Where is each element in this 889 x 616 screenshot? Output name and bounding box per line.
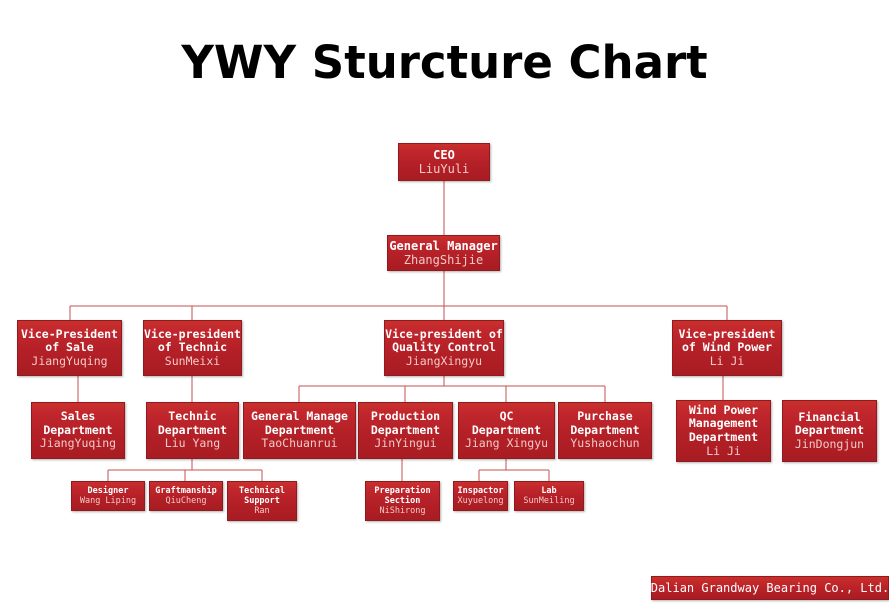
org-chart-canvas: YWY Sturcture Chart (0, 0, 889, 616)
node-vp-sale-role: Vice-President of Sale (21, 328, 118, 355)
page-title: YWY Sturcture Chart (0, 36, 889, 89)
node-inspactor-person: Xuyuelong (457, 496, 503, 506)
node-general-manager-role: General Manager (389, 239, 497, 253)
node-production-department[interactable]: Production Department JinYingui (358, 402, 453, 459)
node-sales-department-person: JiangYuqing (40, 437, 116, 451)
node-designer-person: Wang Liping (80, 496, 136, 506)
node-purchase-department-person: Yushaochun (570, 437, 639, 451)
node-lab-role: Lab (541, 486, 556, 496)
node-vp-wind-power-role: Vice-president of Wind Power (679, 328, 776, 355)
node-graftmanship[interactable]: Graftmanship QiuCheng (149, 481, 223, 511)
node-financial-department[interactable]: Financial Department JinDongjun (782, 400, 877, 462)
node-wind-power-management-department[interactable]: Wind Power Management Department Li Ji (676, 400, 771, 462)
node-wind-power-management-department-person: Li Ji (706, 445, 741, 459)
node-general-manager[interactable]: General Manager ZhangShijie (387, 235, 500, 271)
node-wind-power-management-department-role: Wind Power Management Department (689, 404, 758, 445)
node-vp-wind-power[interactable]: Vice-president of Wind Power Li Ji (672, 320, 782, 376)
node-financial-department-person: JinDongjun (795, 438, 864, 452)
node-inspactor-role: Inspactor (457, 486, 503, 496)
node-vp-sale[interactable]: Vice-President of Sale JiangYuqing (17, 320, 122, 376)
node-qc-department-person: Jiang Xingyu (465, 437, 548, 451)
node-vp-wind-power-person: Li Ji (710, 355, 745, 369)
node-vp-quality-control-person: JiangXingyu (406, 355, 482, 369)
node-vp-technic-role: Vice-president of Technic (144, 328, 241, 355)
node-lab[interactable]: Lab SunMeiling (514, 481, 584, 511)
node-general-manager-person: ZhangShijie (404, 253, 483, 267)
node-technical-support[interactable]: Technical Support Ran (227, 481, 297, 521)
node-ceo-person: LiuYuli (419, 162, 470, 176)
node-purchase-department[interactable]: Purchase Department Yushaochun (558, 402, 652, 459)
node-ceo-role: CEO (433, 148, 455, 162)
node-graftmanship-person: QiuCheng (166, 496, 207, 506)
node-designer[interactable]: Designer Wang Liping (71, 481, 145, 511)
node-vp-technic[interactable]: Vice-president of Technic SunMeixi (143, 320, 242, 376)
node-technic-department[interactable]: Technic Department Liu Yang (146, 402, 239, 459)
node-designer-role: Designer (88, 486, 129, 496)
node-vp-quality-control-role: Vice-president of Quality Control (385, 328, 503, 355)
node-qc-department-role: QC Department (472, 410, 541, 437)
node-technic-department-person: Liu Yang (165, 437, 220, 451)
node-ceo[interactable]: CEO LiuYuli (398, 143, 490, 181)
node-lab-person: SunMeiling (523, 496, 574, 506)
node-sales-department[interactable]: Sales Department JiangYuqing (31, 402, 125, 459)
node-financial-department-role: Financial Department (795, 411, 864, 438)
node-inspactor[interactable]: Inspactor Xuyuelong (453, 481, 508, 511)
node-general-manage-department-person: TaoChuanrui (261, 437, 337, 451)
node-production-department-person: JinYingui (374, 437, 436, 451)
node-preparation-section[interactable]: Preparation Section NiShirong (365, 481, 440, 521)
node-general-manage-department-role: General Manage Department (251, 410, 348, 437)
node-qc-department[interactable]: QC Department Jiang Xingyu (458, 402, 555, 459)
node-graftmanship-role: Graftmanship (155, 486, 216, 496)
node-technic-department-role: Technic Department (158, 410, 227, 437)
node-purchase-department-role: Purchase Department (570, 410, 639, 437)
company-name: Dalian Grandway Bearing Co., Ltd. (651, 581, 889, 595)
node-preparation-section-person: NiShirong (379, 506, 425, 516)
connector-lines (0, 0, 889, 616)
node-general-manage-department[interactable]: General Manage Department TaoChuanrui (243, 402, 356, 459)
node-production-department-role: Production Department (371, 410, 440, 437)
node-preparation-section-role: Preparation Section (374, 486, 430, 506)
node-vp-technic-person: SunMeixi (165, 355, 220, 369)
node-sales-department-role: Sales Department (43, 410, 112, 437)
node-technical-support-person: Ran (254, 506, 269, 516)
company-footer-banner: Dalian Grandway Bearing Co., Ltd. (651, 576, 889, 600)
node-vp-quality-control[interactable]: Vice-president of Quality Control JiangX… (384, 320, 504, 376)
node-vp-sale-person: JiangYuqing (31, 355, 107, 369)
node-technical-support-role: Technical Support (239, 486, 285, 506)
